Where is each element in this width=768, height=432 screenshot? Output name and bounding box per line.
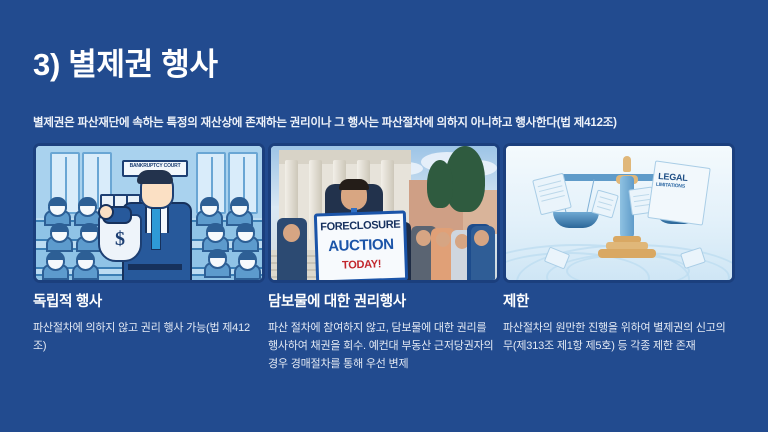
slide: 3) 별제권 행사 별제권은 파산재단에 속하는 특정의 재산상에 존재하는 권…	[0, 0, 768, 432]
legal-limitations-document: LEGAL LIMITATIONS	[647, 160, 711, 225]
legal-limitations-scales-illustration: LEGAL LIMITATIONS	[503, 143, 735, 283]
foreclosure-auction-sign: FORECLOSURE AUCTION TODAY!	[314, 210, 408, 283]
page-title: 3) 별제권 행사	[33, 46, 218, 84]
sign-line-3: TODAY!	[318, 257, 404, 272]
column-collateral-rights: FORECLOSURE AUCTION TODAY! 담보물에 대한 권리행사 …	[268, 143, 500, 373]
sign-line-1: FORECLOSURE	[317, 219, 403, 234]
bankruptcy-court-illustration: BANKRUPTCY COURT	[33, 143, 265, 283]
column-heading: 제한	[503, 293, 735, 312]
sign-line-2: AUCTION	[318, 236, 405, 256]
document-line-2: LIMITATIONS	[656, 182, 685, 190]
column-body: 파산절차에 의하지 않고 권리 행사 가능(법 제412조)	[33, 319, 261, 355]
column-limitations: LEGAL LIMITATIONS 제한 파산절차의 원만한 진행을 위하여 별…	[503, 143, 735, 373]
column-body: 파산 절차에 참여하지 않고, 담보물에 대한 권리를 행사하여 채권을 회수.…	[268, 319, 496, 373]
column-independent-exercise: BANKRUPTCY COURT	[33, 143, 265, 373]
column-heading: 담보물에 대한 권리행사	[268, 293, 500, 312]
scale-pan-left	[553, 212, 599, 228]
page-subtitle: 별제권은 파산재단에 속하는 특정의 재산상에 존재하는 권리이나 그 행사는 …	[33, 114, 617, 130]
column-body: 파산절차의 원만한 진행을 위하여 별제권의 신고의무(제313조 제1항 제5…	[503, 319, 731, 355]
content-columns: BANKRUPTCY COURT	[33, 143, 735, 373]
dollar-sign-icon: $	[100, 228, 140, 251]
bankruptcy-court-sign-text: BANKRUPTCY COURT	[124, 163, 186, 169]
column-heading: 독립적 행사	[33, 293, 265, 312]
foreclosure-auction-photo: FORECLOSURE AUCTION TODAY!	[268, 143, 500, 283]
